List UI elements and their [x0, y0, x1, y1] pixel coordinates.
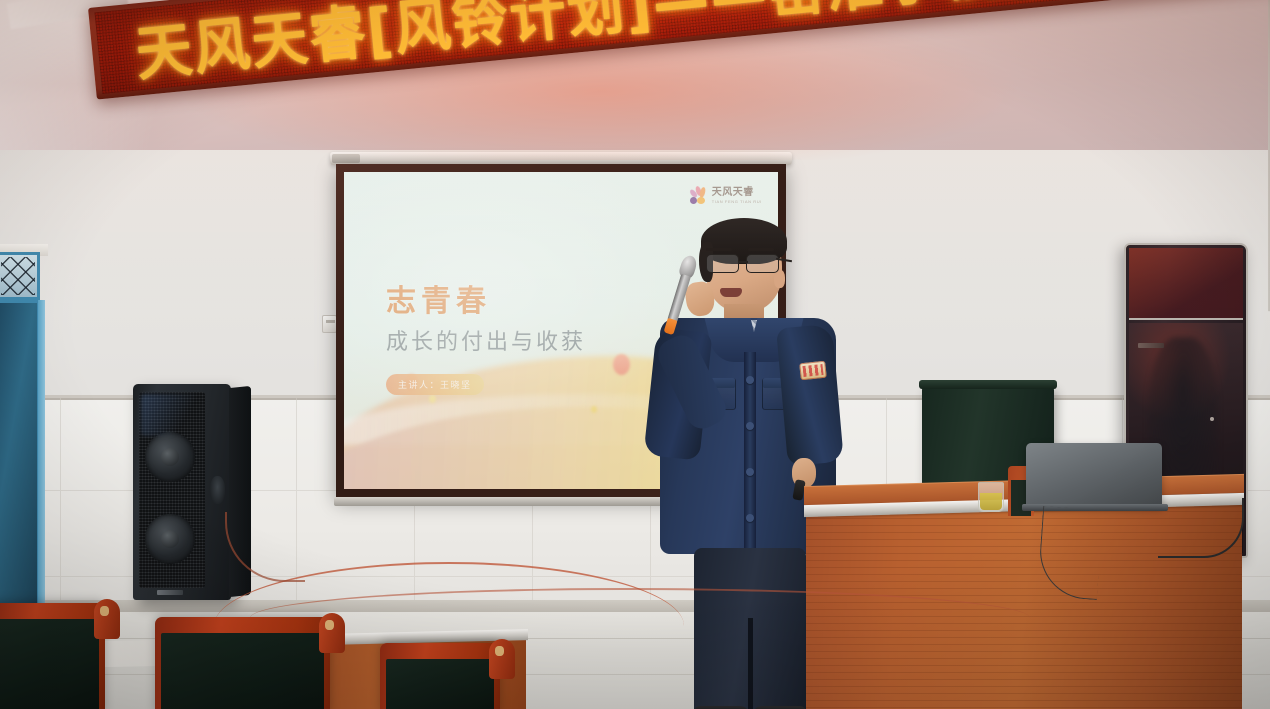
presenter-brow-left — [706, 248, 732, 251]
slide-subtitle: 成长的付出与收获 — [386, 324, 586, 356]
brand-name-en: TIAN FENG TIAN RUI — [712, 200, 762, 204]
entry-door[interactable] — [0, 300, 40, 610]
glasses-icon — [704, 254, 786, 274]
tea-liquid — [980, 493, 1002, 510]
pa-speaker-highlight — [141, 394, 201, 436]
tea-cup — [978, 482, 1004, 512]
slide-brand-logo: 天风天睿 TIAN FENG TIAN RUI — [689, 186, 762, 205]
presenter-mouth — [720, 288, 742, 297]
slide-presenter-badge: 主讲人：王晓坚 — [386, 374, 484, 395]
screen-roller-cap — [332, 154, 360, 163]
chair-armrest-cap — [94, 599, 120, 639]
wall-socket — [322, 315, 337, 333]
chair-armrest-cap — [319, 613, 345, 653]
laptop[interactable] — [1026, 443, 1162, 507]
jacket-sleeve-right — [776, 324, 844, 466]
pa-speaker-left — [133, 384, 231, 600]
trouser-leg-gap — [748, 618, 753, 709]
slide-title: 志青春 — [386, 276, 491, 320]
photo-scene: 天风天睿 TIAN FENG TIAN RUI 志青春 成长的付出与收获 主讲人… — [0, 0, 1270, 709]
flower-logo-icon — [689, 186, 708, 205]
slide-decor-dot-2 — [429, 395, 436, 403]
presenter-trousers — [694, 548, 806, 709]
chair-backrest-pad — [386, 659, 494, 709]
ac-brand-mark — [1138, 343, 1164, 348]
ac-top-panel — [1129, 248, 1243, 320]
presenter-brow-right — [748, 248, 774, 251]
window-grill-icon — [1, 257, 35, 295]
pa-speaker-badge — [157, 590, 183, 595]
audience-chair-2[interactable] — [155, 617, 330, 709]
chair-backrest-pad — [161, 633, 324, 709]
slide-decor-dot-3 — [613, 354, 630, 375]
brand-name-cn: 天风天睿 — [712, 188, 762, 198]
door-frame-edge — [38, 300, 45, 610]
pa-speaker-woofer-lower — [145, 514, 195, 564]
pa-speaker-horn — [210, 476, 225, 504]
transom-window — [0, 252, 40, 300]
pa-speaker-woofer-upper — [145, 432, 195, 482]
audience-chair-3[interactable] — [380, 643, 500, 709]
ac-indicator-led — [1210, 417, 1214, 421]
chair-armrest-cap — [489, 639, 515, 679]
equipment-case-lid — [919, 380, 1057, 389]
led-banner-text: 天风天睿[风铃计划]——窑淮学校主题校课 — [131, 0, 1233, 92]
jacket-arm-patch — [799, 361, 827, 381]
chair-backrest-pad — [0, 619, 99, 709]
audience-chair-1[interactable] — [0, 603, 105, 709]
microphone-band — [663, 318, 677, 335]
